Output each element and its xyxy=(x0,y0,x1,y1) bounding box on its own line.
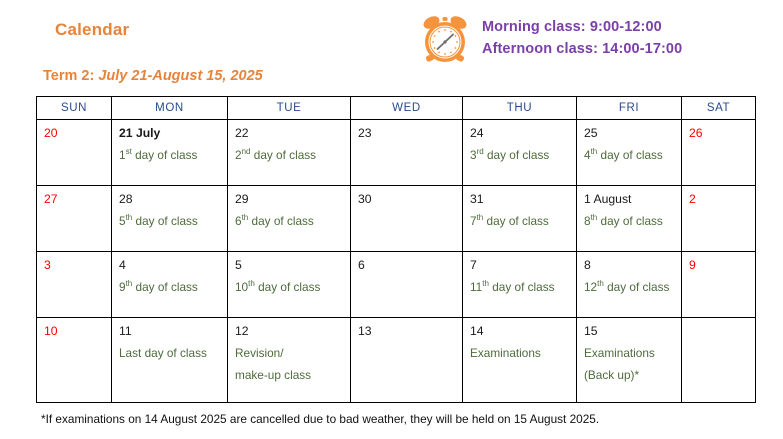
day-number: 8 xyxy=(584,257,681,275)
afternoon-class-time: Afternoon class: 14:00-17:00 xyxy=(482,40,682,60)
event-ordinal-suffix: rd xyxy=(477,147,484,156)
event-text: Last day of class xyxy=(119,346,207,360)
class-times-text: Morning class: 9:00-12:00 Afternoon clas… xyxy=(482,18,682,59)
day-event-label: Revision/ xyxy=(235,344,350,362)
day-event-label: Last day of class xyxy=(119,344,227,362)
calendar-day-cell[interactable] xyxy=(682,318,756,403)
day-number: 12 xyxy=(235,323,350,341)
calendar-week-row: 349th day of class510th day of class6711… xyxy=(37,252,756,318)
calendar-day-cell[interactable]: 13 xyxy=(351,318,463,403)
calendar-day-cell[interactable]: 285th day of class xyxy=(112,186,228,252)
day-event-label: 7th day of class xyxy=(470,212,576,230)
day-event-label: 12th day of class xyxy=(584,278,681,296)
event-text: day of class xyxy=(604,280,670,294)
event-ordinal-number: 11 xyxy=(470,280,482,294)
day-event-label: 9th day of class xyxy=(119,278,227,296)
day-number: 29 xyxy=(235,191,350,209)
footnote: *If examinations on 14 August 2025 are c… xyxy=(41,412,599,426)
day-number: 22 xyxy=(235,125,350,143)
day-number: 4 xyxy=(119,257,227,275)
day-event-label: Examinations xyxy=(470,344,576,362)
event-text: day of class xyxy=(484,148,550,162)
column-header-tue: TUE xyxy=(228,97,351,120)
event-text: Examinations xyxy=(584,346,655,360)
day-number: 9 xyxy=(689,257,755,275)
day-number: 27 xyxy=(44,191,111,209)
calendar-table: SUN MON TUE WED THU FRI SAT 2021 July1st… xyxy=(36,96,756,403)
day-number: 6 xyxy=(358,257,462,275)
calendar-day-cell[interactable]: 3 xyxy=(37,252,112,318)
calendar-day-cell[interactable]: 49th day of class xyxy=(112,252,228,318)
calendar-week-row: 1011Last day of class12Revision/make-up … xyxy=(37,318,756,403)
event-text: day of class xyxy=(489,280,555,294)
calendar-day-cell[interactable]: 711th day of class xyxy=(463,252,577,318)
event-ordinal-suffix: th xyxy=(597,279,604,288)
day-event-label: Examinations xyxy=(584,344,681,362)
column-header-fri: FRI xyxy=(577,97,682,120)
day-number: 1 August xyxy=(584,191,681,209)
calendar-day-cell[interactable]: 6 xyxy=(351,252,463,318)
day-number: 3 xyxy=(44,257,111,275)
day-event-label-line2: make-up class xyxy=(235,366,350,384)
event-ordinal-suffix: th xyxy=(482,279,489,288)
column-header-wed: WED xyxy=(351,97,463,120)
page-title: Calendar xyxy=(55,20,129,40)
column-header-sat: SAT xyxy=(682,97,756,120)
column-header-sun: SUN xyxy=(37,97,112,120)
day-event-label: 1st day of class xyxy=(119,146,227,164)
event-text: day of class xyxy=(132,214,198,228)
calendar-day-cell[interactable]: 9 xyxy=(682,252,756,318)
calendar-day-cell[interactable]: 222nd day of class xyxy=(228,120,351,186)
term-heading: Term 2: July 21-August 15, 2025 xyxy=(43,68,263,84)
calendar-day-cell[interactable]: 20 xyxy=(37,120,112,186)
day-event-label: 11th day of class xyxy=(470,278,576,296)
calendar-day-cell[interactable]: 21 July1st day of class xyxy=(112,120,228,186)
day-number: 14 xyxy=(470,323,576,341)
calendar-week-row: 27285th day of class296th day of class30… xyxy=(37,186,756,252)
day-number: 7 xyxy=(470,257,576,275)
alarm-clock-icon xyxy=(418,13,472,65)
day-number: 26 xyxy=(689,125,755,143)
calendar-day-cell[interactable]: 510th day of class xyxy=(228,252,351,318)
day-number: 24 xyxy=(470,125,576,143)
event-ordinal-suffix: th xyxy=(248,279,255,288)
column-header-thu: THU xyxy=(463,97,577,120)
day-event-label: 2nd day of class xyxy=(235,146,350,164)
day-number: 15 xyxy=(584,323,681,341)
day-number: 11 xyxy=(119,323,227,341)
event-text: day of class xyxy=(132,280,198,294)
day-event-label-line2: (Back up)* xyxy=(584,366,681,384)
day-event-label: 10th day of class xyxy=(235,278,350,296)
day-number: 13 xyxy=(358,323,462,341)
calendar-day-cell[interactable]: 317th day of class xyxy=(463,186,577,252)
calendar-day-cell[interactable]: 27 xyxy=(37,186,112,252)
calendar-week-row: 2021 July1st day of class222nd day of cl… xyxy=(37,120,756,186)
day-number: 25 xyxy=(584,125,681,143)
event-text: day of class xyxy=(483,214,549,228)
event-text: day of class xyxy=(132,148,198,162)
class-times-block: Morning class: 9:00-12:00 Afternoon clas… xyxy=(418,13,682,65)
calendar-day-cell[interactable]: 30 xyxy=(351,186,463,252)
calendar-day-cell[interactable]: 812th day of class xyxy=(577,252,682,318)
event-ordinal-number: 10 xyxy=(235,280,248,294)
calendar-header-row: SUN MON TUE WED THU FRI SAT xyxy=(37,97,756,120)
event-text: day of class xyxy=(248,214,314,228)
event-text: day of class xyxy=(250,148,316,162)
day-number: 21 July xyxy=(119,125,227,143)
day-number: 10 xyxy=(44,323,111,341)
day-number: 2 xyxy=(689,191,755,209)
day-number: 5 xyxy=(235,257,350,275)
event-text: day of class xyxy=(597,148,663,162)
term-date-range: July 21-August 15, 2025 xyxy=(98,68,262,84)
day-number: 20 xyxy=(44,125,111,143)
page-header: Calendar Term 2: July 21-August 15, 2025 xyxy=(0,0,783,96)
day-event-label: 8th day of class xyxy=(584,212,681,230)
event-text: Examinations xyxy=(470,346,541,360)
day-event-label: 3rd day of class xyxy=(470,146,576,164)
day-number: 30 xyxy=(358,191,462,209)
calendar-day-cell[interactable]: 254th day of class xyxy=(577,120,682,186)
calendar-day-cell[interactable]: 1 August8th day of class xyxy=(577,186,682,252)
calendar-day-cell[interactable]: 296th day of class xyxy=(228,186,351,252)
calendar-day-cell[interactable]: 14Examinations xyxy=(463,318,577,403)
term-label: Term 2: xyxy=(43,68,94,84)
event-text: day of class xyxy=(597,214,663,228)
day-number: 31 xyxy=(470,191,576,209)
morning-class-time: Morning class: 9:00-12:00 xyxy=(482,18,682,38)
calendar-day-cell[interactable]: 15Examinations(Back up)* xyxy=(577,318,682,403)
calendar-day-cell[interactable]: 11Last day of class xyxy=(112,318,228,403)
day-number: 23 xyxy=(358,125,462,143)
column-header-mon: MON xyxy=(112,97,228,120)
event-ordinal-number: 12 xyxy=(584,280,597,294)
day-number: 28 xyxy=(119,191,227,209)
day-event-label: 4th day of class xyxy=(584,146,681,164)
calendar-day-cell[interactable]: 10 xyxy=(37,318,112,403)
calendar-day-cell[interactable]: 26 xyxy=(682,120,756,186)
calendar-day-cell[interactable]: 2 xyxy=(682,186,756,252)
calendar-day-cell[interactable]: 23 xyxy=(351,120,463,186)
day-event-label: 5th day of class xyxy=(119,212,227,230)
calendar-day-cell[interactable]: 12Revision/make-up class xyxy=(228,318,351,403)
event-text: Revision/ xyxy=(235,346,284,360)
event-text: day of class xyxy=(255,280,321,294)
day-event-label: 6th day of class xyxy=(235,212,350,230)
calendar-day-cell[interactable]: 243rd day of class xyxy=(463,120,577,186)
